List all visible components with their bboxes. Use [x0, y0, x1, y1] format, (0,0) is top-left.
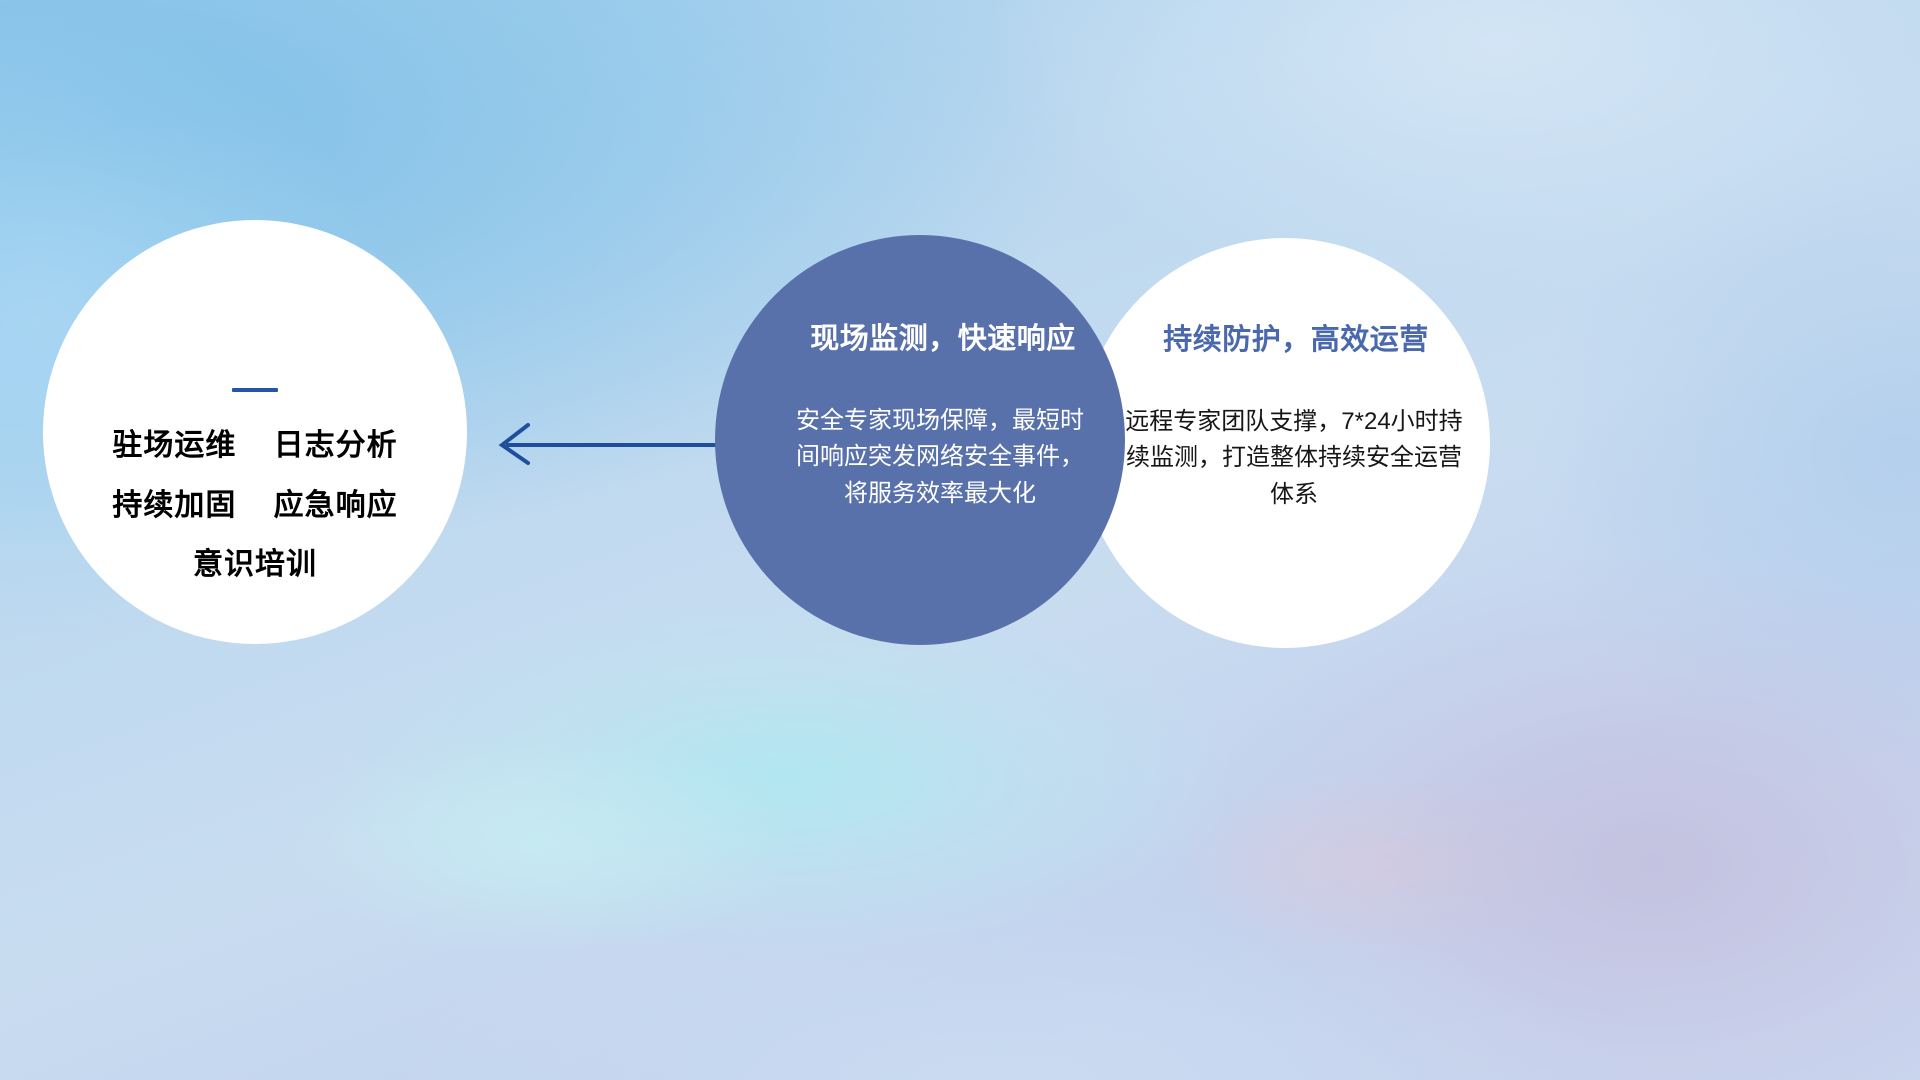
capability-circle-content: 驻场运维 日志分析 持续加固 应急响应 意识培训 [43, 220, 467, 644]
onsite-monitoring-circle: 现场监测，快速响应 安全专家现场保障，最短时间响应突发网络安全事件，将服务效率最… [715, 235, 1125, 645]
flow-arrow-left-icon [480, 405, 730, 485]
continuous-protection-title: 持续防护，高效运营 [1163, 316, 1429, 358]
continuous-protection-content: 持续防护，高效运营 远程专家团队支撑，7*24小时持续监测，打造整体持续安全运营… [1080, 238, 1490, 648]
capability-circle: 驻场运维 日志分析 持续加固 应急响应 意识培训 [43, 220, 467, 644]
slide-canvas: 驻场运维 日志分析 持续加固 应急响应 意识培训 持续防护，高效运营 远程专家团… [0, 0, 1920, 1080]
capability-line-1: 驻场运维 日志分析 [112, 430, 397, 462]
capability-line-3: 意识培训 [193, 549, 317, 581]
continuous-protection-body: 远程专家团队支撑，7*24小时持续监测，打造整体持续安全运营体系 [1124, 404, 1464, 513]
continuous-protection-circle: 持续防护，高效运营 远程专家团队支撑，7*24小时持续监测，打造整体持续安全运营… [1080, 238, 1490, 648]
onsite-monitoring-content: 现场监测，快速响应 安全专家现场保障，最短时间响应突发网络安全事件，将服务效率最… [715, 235, 1125, 645]
divider-dash [232, 388, 278, 392]
onsite-monitoring-title: 现场监测，快速响应 [810, 315, 1076, 357]
onsite-monitoring-body: 安全专家现场保障，最短时间响应突发网络安全事件，将服务效率最大化 [794, 403, 1086, 512]
capability-line-2: 持续加固 应急响应 [112, 490, 397, 522]
